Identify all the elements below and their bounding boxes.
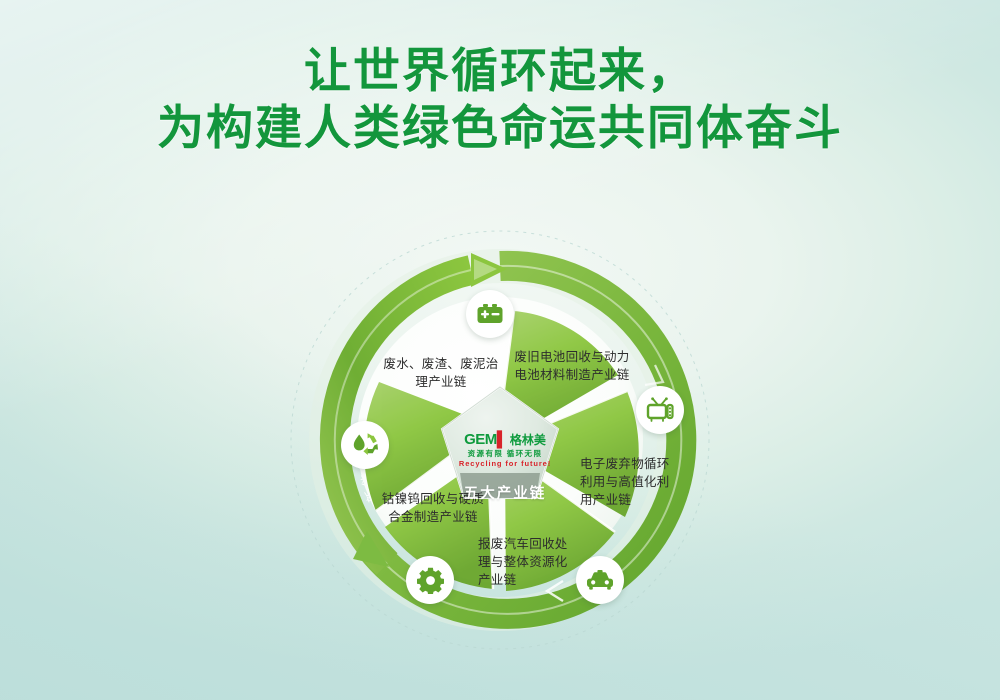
logo-primary-row: GEM▌ 格林美 — [455, 432, 555, 447]
logo-slogan-english: Recycling for future! — [455, 459, 555, 468]
page-title: 让世界循环起来， 为构建人类绿色命运共同体奋斗 — [0, 42, 1000, 157]
headline-line-2: 为构建人类绿色命运共同体奋斗 — [0, 99, 1000, 156]
icon-bubble-car[interactable] — [576, 556, 624, 604]
logo-brand-chinese: 格林美 — [510, 434, 546, 446]
icon-bubble-gear[interactable] — [406, 556, 454, 604]
car-icon — [585, 569, 615, 591]
icon-bubble-tv[interactable] — [636, 386, 684, 434]
recycle-drop-icon — [350, 431, 380, 459]
headline-line-1: 让世界循环起来， — [0, 42, 1000, 99]
logo-gem-wordmark: GEM▌ — [464, 432, 507, 447]
logo-slogan-chinese: 资源有限 循环无限 — [455, 449, 555, 458]
icon-bubble-recycle[interactable] — [341, 421, 389, 469]
tv-icon — [646, 397, 674, 423]
infographic-canvas: 让世界循环起来， 为构建人类绿色命运共同体奋斗 — [0, 0, 1000, 700]
battery-icon — [476, 303, 504, 325]
gear-icon — [417, 567, 444, 594]
center-title: 五大产业链 — [455, 482, 555, 503]
logo-gem-text: GEM — [464, 431, 497, 448]
icon-bubble-battery[interactable] — [466, 290, 514, 338]
logo-red-accent: ▌ — [497, 431, 507, 448]
gem-logo: GEM▌ 格林美 资源有限 循环无限 Recycling for future! — [455, 432, 555, 468]
